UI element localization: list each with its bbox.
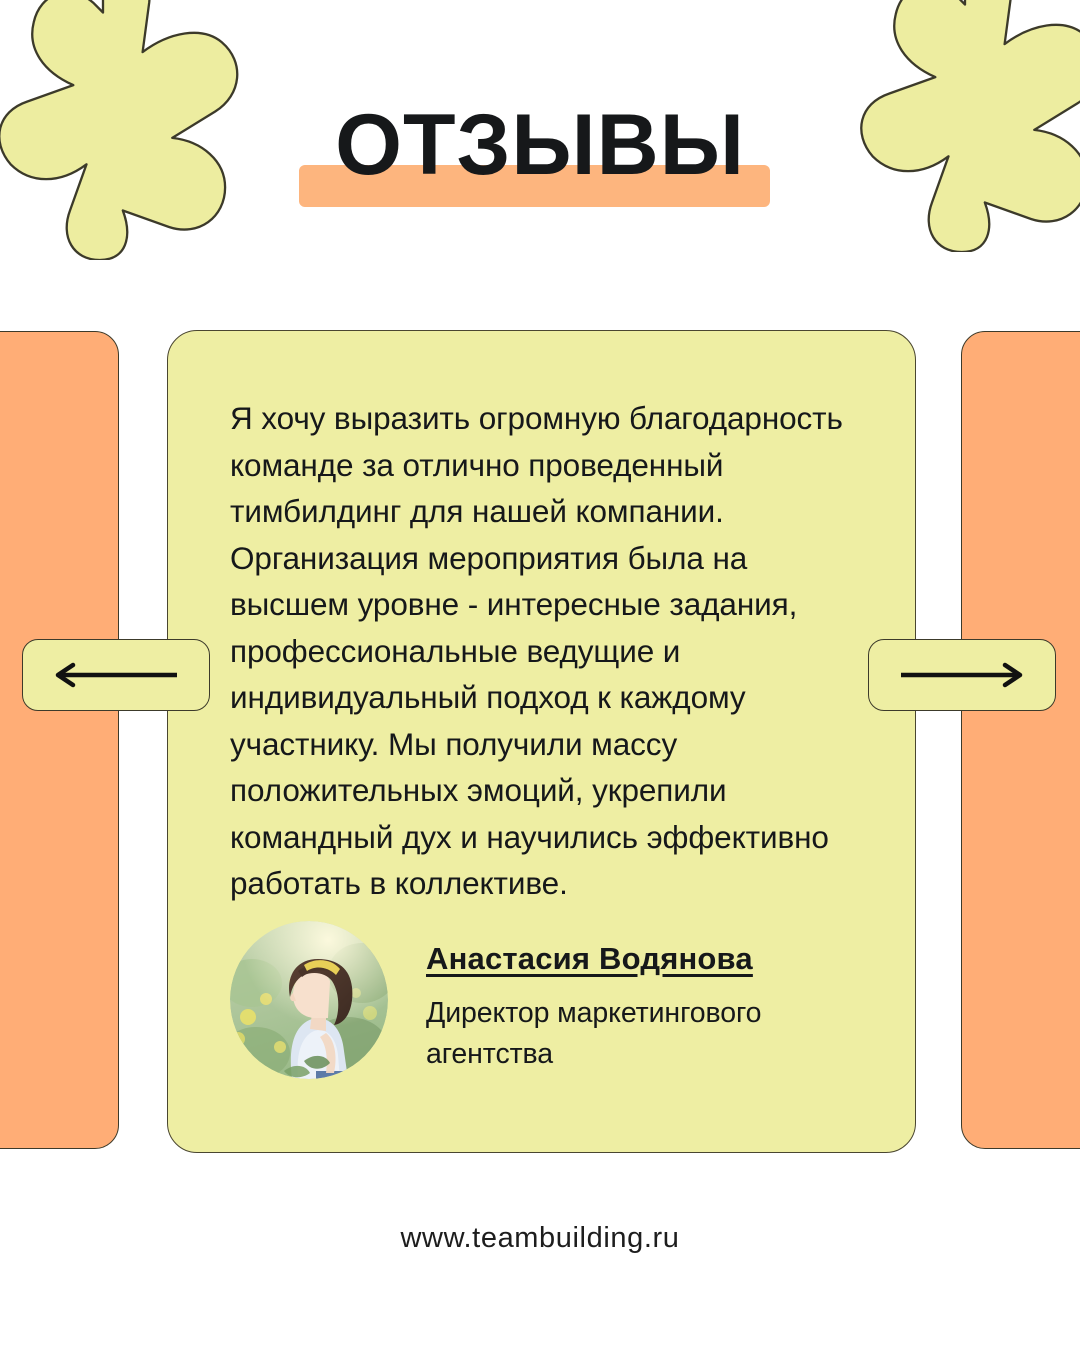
avatar (230, 921, 388, 1079)
arrow-left-icon (51, 662, 181, 688)
author-info: Анастасия Водянова Директор маркетингово… (426, 939, 886, 1075)
testimonial-author: Анастасия Водянова Директор маркетингово… (230, 921, 880, 1091)
footer-website-url[interactable]: www.teambuilding.ru (0, 1222, 1080, 1255)
author-name: Анастасия Водянова (426, 939, 753, 979)
testimonial-card: Я хочу выразить огромную благодарность к… (167, 330, 916, 1153)
page-title: ОТЗЫВЫ (0, 95, 1080, 195)
next-slide-button[interactable] (868, 639, 1056, 711)
arrow-right-icon (897, 662, 1027, 688)
side-panel-left (0, 331, 119, 1149)
page-title-area: ОТЗЫВЫ (0, 95, 1080, 220)
slide-canvas: ОТЗЫВЫ Я хочу выразить огромную благодар… (0, 0, 1080, 1350)
testimonial-quote: Я хочу выразить огромную благодарность к… (230, 395, 870, 907)
author-role: Директор маркетингового агентства (426, 993, 886, 1075)
prev-slide-button[interactable] (22, 639, 210, 711)
side-panel-right (961, 331, 1080, 1149)
